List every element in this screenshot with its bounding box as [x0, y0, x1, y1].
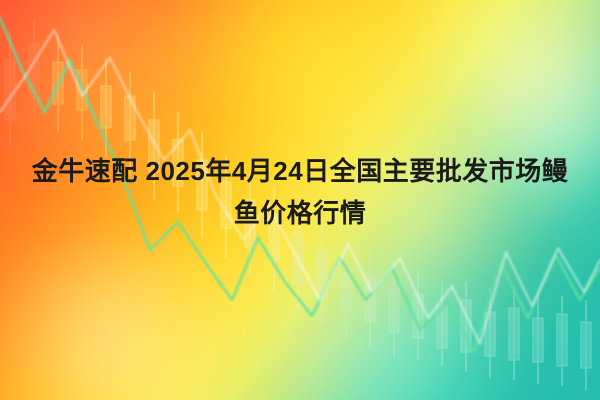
page-title-line-1: 金牛速配 2025年4月24日全国主要批发市场鳗 [24, 150, 576, 192]
candle-body [557, 314, 567, 366]
candle-body [5, 60, 15, 120]
candle-body [581, 322, 591, 368]
candle-body [389, 288, 399, 332]
candle-body [125, 96, 135, 140]
candle-body [533, 318, 543, 362]
title-block: 金牛速配 2025年4月24日全国主要批发市场鳗 鱼价格行情 [0, 150, 600, 234]
candle-body [509, 308, 519, 360]
page-title-line-2: 鱼价格行情 [24, 192, 576, 234]
image-canvas: 金牛速配 2025年4月24日全国主要批发市场鳗 鱼价格行情 [0, 0, 600, 400]
candle-body [101, 86, 111, 128]
